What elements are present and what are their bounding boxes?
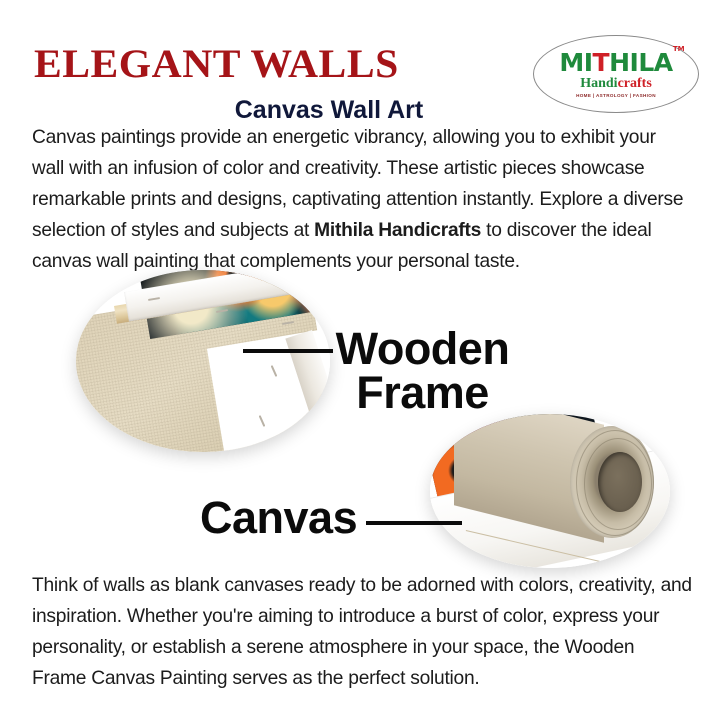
logo-word-part1: MI (559, 48, 592, 77)
trademark-icon: TM (673, 46, 685, 53)
canvas-roll-photo (430, 414, 670, 568)
logo-subword: Handicrafts (580, 76, 652, 91)
page-title: ELEGANT WALLS (34, 44, 399, 84)
wooden-frame-scene (76, 270, 330, 452)
logo-word-part2: T (593, 48, 610, 77)
closing-paragraph: Think of walls as blank canvases ready t… (32, 570, 692, 694)
logo-word-part3: HILA (609, 48, 673, 77)
page-subtitle: Canvas Wall Art (0, 96, 720, 125)
brand-mention: Mithila Handicrafts (314, 220, 481, 241)
canvas-roll-core-hole (598, 452, 642, 512)
logo-sub-part2: crafts (618, 76, 652, 91)
logo-sub-part1: Handi (580, 76, 617, 91)
callout-wooden-frame: Wooden Frame (330, 327, 515, 415)
logo-wordmark: MITHILATM (559, 50, 672, 75)
canvas-roll-scene (430, 414, 670, 568)
callout-canvas: Canvas (200, 496, 357, 540)
wooden-frame-photo (76, 270, 330, 452)
infographic-page: ELEGANT WALLS MITHILATM Handicrafts HOME… (0, 0, 720, 720)
intro-paragraph: Canvas paintings provide an energetic vi… (32, 122, 692, 277)
leader-line-wooden-frame (243, 349, 333, 353)
leader-line-canvas (366, 521, 462, 525)
